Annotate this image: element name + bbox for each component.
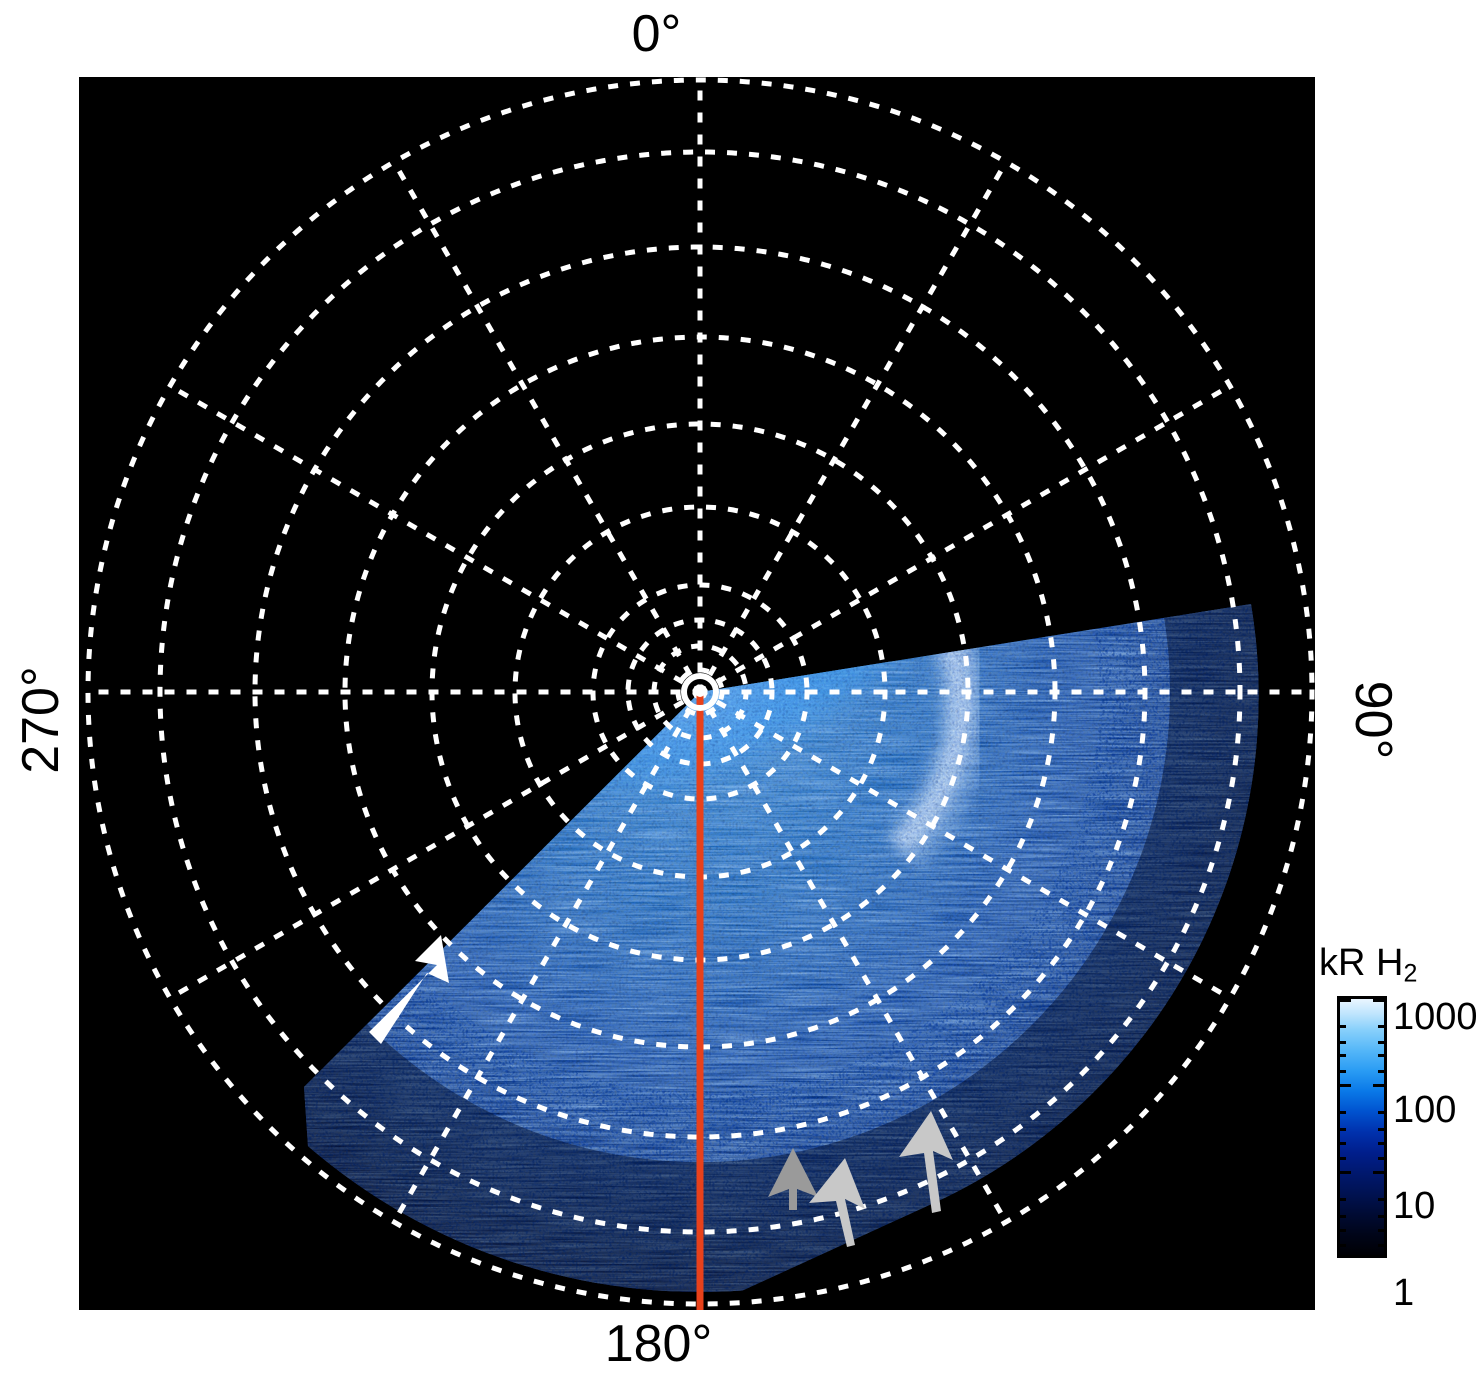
colorbar-tick — [1337, 999, 1351, 1002]
colorbar-tick — [1378, 1070, 1387, 1073]
colorbar-tick — [1378, 1215, 1387, 1218]
colorbar-tick — [1337, 1070, 1346, 1073]
colorbar-label-100: 100 — [1393, 1091, 1456, 1129]
colorbar-tick — [1337, 1054, 1346, 1057]
colorbar-tick — [1337, 1111, 1346, 1114]
colorbar-tick — [1337, 1128, 1346, 1131]
colorbar-tick — [1378, 1157, 1387, 1160]
colorbar-tick — [1337, 1025, 1346, 1028]
axis-label-270-deg: 270° — [15, 625, 67, 815]
colorbar-tick — [1337, 1041, 1346, 1044]
colorbar-tick — [1337, 1157, 1346, 1160]
colorbar-tick — [1337, 1142, 1346, 1145]
colorbar-tick — [1373, 999, 1387, 1002]
colorbar-tick — [1337, 1171, 1351, 1174]
axis-label-0-deg: 0° — [0, 8, 1481, 60]
axis-label-90-deg: 90° — [1347, 625, 1399, 815]
colorbar-tick — [1378, 1198, 1387, 1201]
colorbar-label-10: 10 — [1393, 1187, 1435, 1225]
colorbar-label-1000: 1000 — [1393, 998, 1478, 1036]
colorbar-tick — [1378, 1128, 1387, 1131]
colorbar-tick — [1378, 1054, 1387, 1057]
polar-plot-svg — [79, 77, 1315, 1310]
colorbar-gradient — [1337, 996, 1387, 1258]
colorbar-tick — [1378, 1025, 1387, 1028]
figure-canvas: 0° 180° 270° 90° — [0, 0, 1481, 1386]
colorbar-tick — [1378, 1244, 1387, 1247]
colorbar-tick — [1337, 1215, 1346, 1218]
colorbar-tick — [1373, 1084, 1387, 1087]
colorbar-tick — [1378, 1111, 1387, 1114]
colorbar: kR H2 1000 100 10 1 — [1319, 944, 1481, 1324]
colorbar-tick — [1378, 1229, 1387, 1232]
colorbar-tick — [1373, 1171, 1387, 1174]
colorbar-title: kR H2 — [1319, 944, 1417, 986]
colorbar-tick — [1337, 1084, 1351, 1087]
colorbar-tick — [1378, 1041, 1387, 1044]
colorbar-tick — [1378, 1142, 1387, 1145]
colorbar-tick — [1337, 1244, 1346, 1247]
colorbar-label-1: 1 — [1393, 1274, 1414, 1312]
polar-plot-area — [79, 77, 1315, 1310]
axis-label-180-deg: 180° — [0, 1318, 1481, 1370]
colorbar-tick — [1337, 1198, 1346, 1201]
colorbar-tick — [1337, 1229, 1346, 1232]
